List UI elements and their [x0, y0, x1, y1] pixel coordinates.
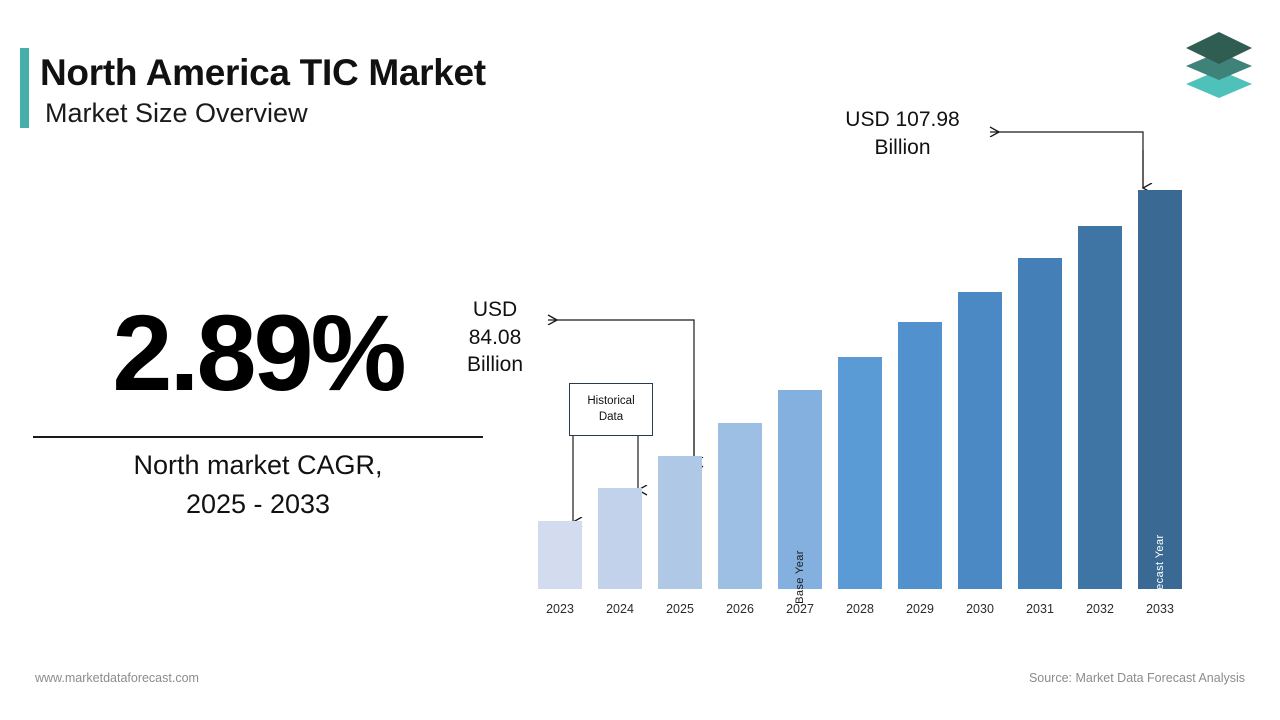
bar-2032[interactable] — [1078, 226, 1122, 589]
x-axis-tick-2029: 2029 — [898, 602, 942, 616]
end-value-annotation: USD 107.98 Billion — [810, 106, 995, 161]
x-axis-tick-2025: 2025 — [658, 602, 702, 616]
x-axis-tick-2032: 2032 — [1078, 602, 1122, 616]
bar-chart: USD 84.08 Billion USD 107.98 Billion His… — [0, 0, 1280, 720]
start-value-annotation: USD 84.08 Billion — [452, 296, 538, 379]
infographic-canvas: North America TIC Market Market Size Ove… — [0, 0, 1280, 720]
x-axis-tick-2033: 2033 — [1138, 602, 1182, 616]
bar-2031[interactable] — [1018, 258, 1062, 589]
bar-2030[interactable] — [958, 292, 1002, 589]
historical-data-box: Historical Data — [569, 383, 653, 436]
footer-website[interactable]: www.marketdataforecast.com — [35, 671, 199, 685]
start-value-line2: 84.08 — [452, 324, 538, 352]
arrow-end-value — [990, 132, 1143, 188]
x-axis-tick-2027: 2027 — [778, 602, 822, 616]
base-year-label: Base Year — [794, 550, 806, 604]
start-value-line3: Billion — [452, 351, 538, 379]
x-axis-tick-2023: 2023 — [538, 602, 582, 616]
start-value-line1: USD — [452, 296, 538, 324]
x-axis-tick-2024: 2024 — [598, 602, 642, 616]
bar-2024[interactable] — [598, 488, 642, 589]
x-axis-tick-2031: 2031 — [1018, 602, 1062, 616]
historical-data-line2: Data — [587, 410, 634, 426]
footer-source: Source: Market Data Forecast Analysis — [1029, 671, 1245, 685]
bar-2028[interactable] — [838, 357, 882, 589]
historical-data-line1: Historical — [587, 394, 634, 410]
bar-2029[interactable] — [898, 322, 942, 589]
bar-2023[interactable] — [538, 521, 582, 589]
bar-2025[interactable] — [658, 456, 702, 589]
bar-2027[interactable]: Base Year — [778, 390, 822, 589]
x-axis-tick-2028: 2028 — [838, 602, 882, 616]
bar-2026[interactable] — [718, 423, 762, 589]
bar-2033[interactable]: Forecast Year — [1138, 190, 1182, 589]
x-axis-tick-2026: 2026 — [718, 602, 762, 616]
end-value-line1: USD 107.98 — [810, 106, 995, 134]
end-value-line2: Billion — [810, 134, 995, 162]
x-axis-tick-2030: 2030 — [958, 602, 1002, 616]
forecast-year-label: Forecast Year — [1154, 534, 1166, 607]
